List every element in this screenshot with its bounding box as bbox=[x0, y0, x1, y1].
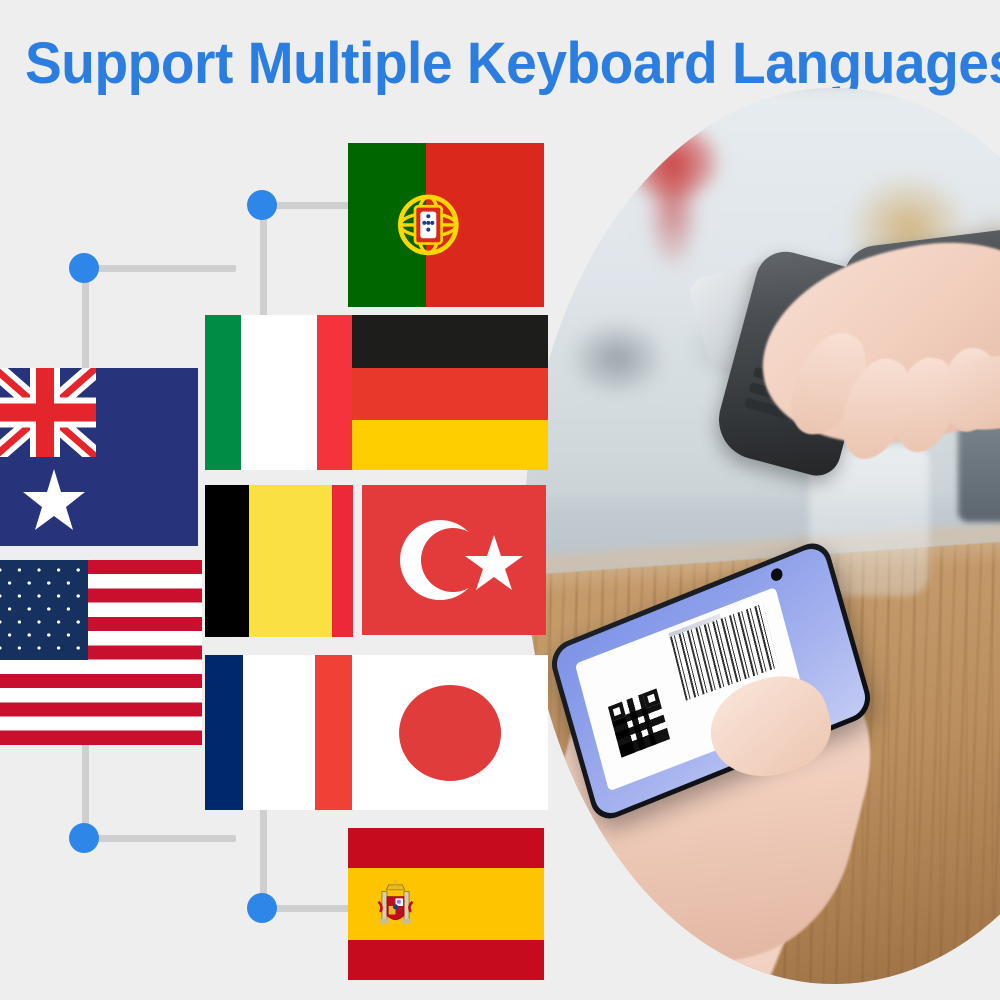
connector-dot-top-right bbox=[247, 190, 277, 220]
flag-portugal bbox=[348, 143, 544, 307]
connector-line-bottom-left-h bbox=[96, 835, 236, 842]
connector-dot-top-left bbox=[69, 253, 99, 283]
front-camera-icon bbox=[769, 566, 783, 582]
flag-spain bbox=[348, 828, 544, 980]
portugal-armillary-icon bbox=[395, 179, 462, 271]
spain-coat-of-arms-icon bbox=[370, 868, 421, 944]
flag-australia bbox=[0, 368, 198, 546]
connector-line-top-right-v bbox=[260, 217, 267, 327]
flag-turkey bbox=[362, 485, 546, 635]
connector-line-top-left-h bbox=[96, 265, 236, 272]
flag-italy bbox=[205, 315, 353, 470]
flag-usa bbox=[0, 560, 202, 745]
connector-dot-bottom-left bbox=[69, 823, 99, 853]
flag-japan bbox=[352, 655, 548, 810]
usa-stars bbox=[0, 560, 88, 660]
flag-germany bbox=[352, 315, 548, 470]
page-title: Support Multiple Keyboard Languages bbox=[25, 30, 975, 97]
japan-sun-disc bbox=[399, 684, 501, 780]
promo-image: Support Multiple Keyboard Languages bbox=[0, 0, 1000, 1000]
connector-dot-bottom-right bbox=[247, 893, 277, 923]
barcode-scanner-photo bbox=[524, 88, 1000, 984]
usa-canton bbox=[0, 560, 88, 660]
flag-france bbox=[205, 655, 353, 810]
qr-code bbox=[609, 688, 671, 757]
flag-belgium bbox=[205, 485, 353, 637]
